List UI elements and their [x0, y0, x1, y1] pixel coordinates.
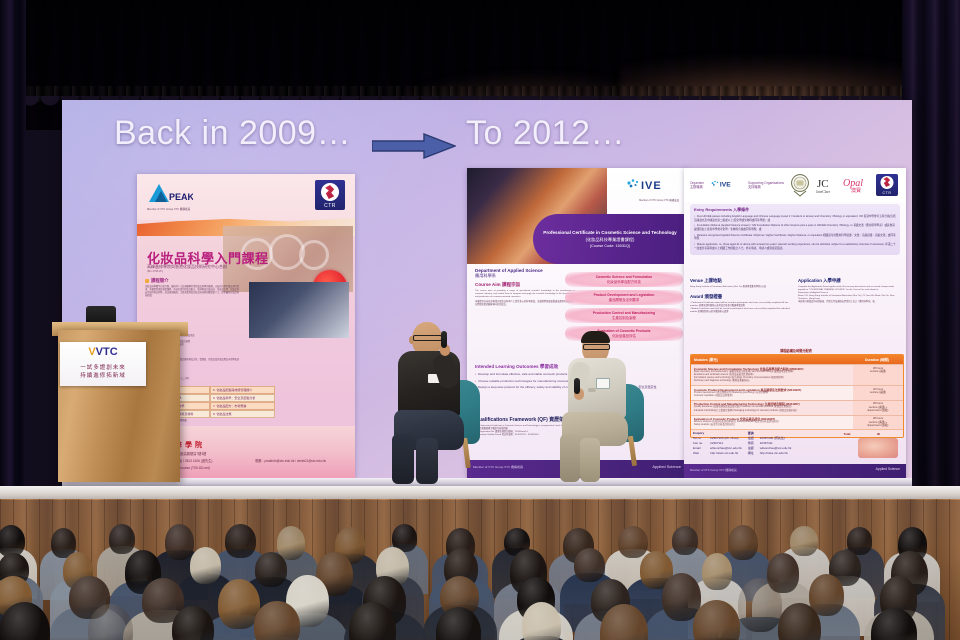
peak-logo-sub: Member of VTC Group VTC 機構成員: [147, 207, 190, 211]
course-aim-en: The course aims at providing a range of …: [475, 290, 575, 299]
speaker-right-hair: [581, 331, 610, 343]
supporting-label-zh: 支持機構: [748, 185, 761, 189]
banner-title-en: Professional Certificate in Cosmetic Sci…: [543, 230, 676, 236]
opal-logo: Opal 澳寶: [843, 175, 871, 195]
enquiry-row: Web http://stws.vtc.edu.hk 網址 http://stw…: [690, 451, 794, 456]
module-sub: Efficacy analysis (功效分析及評估學研究) Stability…: [694, 421, 850, 428]
value: http://stws.vtc.edu.hk: [707, 451, 745, 456]
seal-emblem-icon: [789, 173, 811, 197]
application-column: Application 入學申請 Complete the Applicatio…: [798, 278, 902, 314]
poster-left-section-intro: 課程簡介 化妝品科學關乎日新月異，國內外人士必須瞭解外型化妝品科學的基礎，以配合…: [145, 278, 241, 298]
audience-member-head: [254, 601, 299, 640]
svg-text:JaneClare: JaneClare: [816, 190, 831, 194]
pillar: Product Development and Legislation 產品開發…: [565, 290, 683, 305]
podium-slogan-line1: 一試多證創未來: [80, 365, 126, 371]
value-zh: wilsonchau@vtc.edu.hk: [757, 446, 795, 451]
application-body: Complete the Application Form together w…: [798, 286, 902, 304]
poster-right-table-heading: 課程結構及時間分配表: [690, 348, 902, 353]
cell: 7. 化妝品配方：市場營銷: [210, 402, 275, 410]
audience-member-head: [618, 526, 648, 558]
footer-right-text: Applied Science: [876, 467, 900, 471]
column-header-modules: Modules (單元): [691, 355, 851, 364]
podium-slogan-line2: 持續進修拓新域: [80, 373, 126, 379]
award-body: • Professional Certificate award will be…: [690, 302, 790, 314]
speaker-left-lower-leg: [392, 434, 414, 484]
footer-left-text: Member of VTC Group VTC 機構成員: [690, 468, 737, 472]
audience: [0, 500, 960, 640]
audience-member-head: [728, 525, 758, 561]
svg-text:JC: JC: [817, 178, 829, 190]
poster-right-product-photo: [858, 438, 898, 458]
speaker-right-lower-leg: [560, 434, 580, 482]
pillar-zh: 產品開發及法例要求: [609, 297, 640, 302]
entry-item: Relevant recognised Applied Science Cert…: [694, 234, 896, 242]
venue-body: Hong Kong Institute of Vocational Educat…: [690, 286, 790, 289]
duration-cell: 28 hours Lecture (講課): [853, 365, 903, 385]
cell: 8. 化妝品法規: [210, 410, 275, 418]
speaker-left-glasses: [413, 335, 442, 341]
ctr-logo: CTR: [876, 174, 898, 196]
audience-member-head: [738, 578, 782, 632]
column-header-duration: Duration (時間): [851, 355, 903, 364]
table-row: Production Control and Manufacturing Tec…: [691, 400, 903, 415]
speaker-right-glasses: [583, 344, 610, 350]
right-arrow-icon: [372, 133, 456, 159]
section-body: 化妝品科學關乎日新月異，國內外人士必須瞭解外型化妝品科學的基礎，以配合市場不斷追…: [145, 286, 241, 298]
audience-member-head: [672, 526, 698, 555]
svg-text:澳寶: 澳寶: [851, 187, 861, 194]
podium-sign: VVTC 一試多證創未來 持續進修拓新域: [60, 342, 146, 386]
duration-cell: 28 hours Lecture (講課) + Experiment (實驗): [853, 401, 903, 415]
speaker-left: [386, 322, 492, 484]
speaker-right-microphone: [574, 378, 580, 394]
module-sub: Basic chemistry and biochemistry (基礎化學及生…: [694, 371, 850, 384]
entry-item: Five HKCEE passes including English Lang…: [694, 215, 896, 223]
audience-member-head: [574, 548, 605, 583]
vtc-logo: VVTC: [88, 346, 117, 358]
duration-cell: 28 hours Lecture (講課) + Experiment (實驗): [853, 416, 903, 430]
poster-right-info-columns: Venue 上課地點 Hong Kong Institute of Vocati…: [690, 278, 902, 314]
label: Web: [690, 451, 707, 456]
poster-mid-banner: Professional Certificate in Cosmetic Sci…: [533, 214, 687, 264]
svg-text:PEAK: PEAK: [169, 192, 193, 202]
poster-right-modules-table: Modules (單元) Duration (時間) Cosmetic Scie…: [690, 354, 904, 438]
poster-left-speaker-photo: [249, 282, 349, 338]
entry-item: Foundation Diploma (Applied Science stre…: [694, 224, 896, 232]
organiser-label: Organiser 主辦機構: [690, 181, 704, 189]
label-zh: 網址: [745, 451, 757, 456]
fax-email-line: 電郵：peakinfo@vtc.edu.hk / denis01@vtc.edu…: [255, 458, 326, 463]
cell: 5. 化妝品配製與效能管理簡介: [210, 386, 275, 394]
speaker-right-watch: [588, 388, 596, 392]
table-row: Cosmetic Product Development and Legisla…: [691, 385, 903, 400]
speaker-left-microphone: [441, 331, 447, 348]
footer-right-text: Applied Science: [652, 464, 681, 469]
ive-logo: IVE: [623, 176, 679, 198]
module-cell: Evaluation of Cosmetic Products 化妝品產品評估 …: [691, 416, 853, 430]
ctr-logo-label: CTR: [876, 191, 898, 195]
poster-right-entry-requirements: Entry Requirements 入學條件 Five HKCEE passe…: [690, 204, 900, 255]
duration-cell: 32 hours Lecture (講課): [853, 386, 903, 400]
banner-course-code: (Course Code: 15031Q): [543, 244, 676, 248]
table-row: Cosmetic Science and Formulation Technol…: [691, 364, 903, 385]
venue-award-column: Venue 上課地點 Hong Kong Institute of Vocati…: [690, 278, 790, 314]
value-zh: http://stws.vtc.edu.hk: [757, 451, 795, 456]
audience-member-head: [190, 547, 221, 584]
department-zh: 應用科學系: [475, 273, 543, 279]
table-row: Evaluation of Cosmetic Products 化妝品產品評估 …: [691, 415, 903, 430]
entry-heading: Entry Requirements 入學條件: [694, 207, 896, 213]
svg-text:IVE: IVE: [720, 181, 731, 188]
value: wilsonchau@vtc.edu.hk: [707, 446, 745, 451]
pillar: Production Control and Manufacturing 生產控…: [565, 308, 683, 323]
poster-left-code: (BC-1758-26): [147, 270, 163, 273]
module-sub: Quality assurance (品質管理保證及品質控制) Producti…: [694, 406, 850, 413]
speaker-right-lower-leg-2: [580, 438, 600, 482]
audience-member-head: [790, 526, 818, 556]
janeclare-logo: JC JaneClare: [816, 175, 838, 195]
audience-member-head: [277, 526, 305, 560]
section-heading: 課程簡介: [145, 278, 241, 284]
podium-slogan: 一試多證創未來 持續進修拓新域: [60, 364, 146, 381]
audience-member-head: [255, 552, 287, 586]
table-header-row: Modules (單元) Duration (時間): [691, 355, 903, 364]
module-cell: Cosmetic Science and Formulation Technol…: [691, 365, 853, 385]
course-aim-heading: Course Aim 課程宗旨: [475, 282, 575, 288]
poster-mid-department: Department of Applied Science 應用科學系: [475, 268, 543, 279]
peak-logo: PEAK: [147, 182, 193, 206]
award-heading: Award 頒發證書: [690, 294, 790, 300]
pillar-zh: 化妝品科學及配方科技: [607, 279, 641, 284]
ive-logo: IVE: [709, 178, 743, 193]
module-sub: Product development (產品開發研究) Marketing p…: [694, 392, 850, 399]
audience-member-head: [225, 524, 256, 558]
ive-logo-sub: Member of VTC Group VTC 機構成員: [639, 198, 679, 202]
audience-member-head: [109, 524, 135, 554]
auditorium-scene: Back in 2009… To 2012… PEAK Member of VT…: [0, 0, 960, 640]
course-aim-zh: 本課程旨在為投身專業的化妝品科學人士提供多元的科學知識，並讓他們能融會貫通及應用…: [475, 301, 575, 307]
slide-title-left: Back in 2009…: [114, 114, 351, 153]
speaker-left-lower-leg-2: [416, 438, 438, 484]
supporting-label: Supporting Organisations 支持機構: [748, 181, 784, 189]
svg-text:IVE: IVE: [641, 180, 662, 192]
banner-title-zh: (化妝品科技專業證書課程): [543, 237, 676, 243]
poster-right-logo-row: Organiser 主辦機構 IVE Supporting Organisati…: [684, 168, 906, 202]
module-cell: Cosmetic Product Development and Legisla…: [691, 386, 853, 400]
cell: 6. 化妝品科學：安全及配製分析: [210, 394, 275, 402]
audience-member-head: [522, 602, 562, 640]
pillar-zh: 生產控制及製程: [612, 315, 636, 320]
entry-item: Mature applicants, i.e. those aged 21 or…: [694, 243, 896, 251]
poster-right: Organiser 主辦機構 IVE Supporting Organisati…: [684, 168, 906, 480]
speaker-right: [552, 332, 652, 482]
application-heading: Application 入學申請: [798, 278, 902, 284]
venue-heading: Venue 上課地點: [690, 278, 790, 284]
ctr-logo-label: CTR: [315, 203, 345, 209]
speaker-right-badge: [596, 378, 610, 389]
pillar: Cosmetic Science and Formulation 化妝品科學及配…: [565, 272, 683, 287]
poster-left-column-1: 課程簡介 化妝品科學關乎日新月異，國內外人士必須瞭解外型化妝品科學的基礎，以配合…: [145, 278, 241, 303]
stage-front-edge: [0, 486, 960, 500]
slide-title-right: To 2012…: [466, 114, 625, 153]
vtc-logo-text: VTC: [96, 346, 118, 358]
ctr-logo: CTR: [315, 180, 345, 210]
audience-member-head: [165, 524, 194, 561]
poster-mid-course-aim: Course Aim 課程宗旨 The course aims at provi…: [475, 282, 575, 307]
audience-member-head: [702, 553, 732, 590]
module-cell: Production Control and Manufacturing Tec…: [691, 401, 853, 415]
organiser-label-zh: 主辦機構: [690, 185, 703, 189]
